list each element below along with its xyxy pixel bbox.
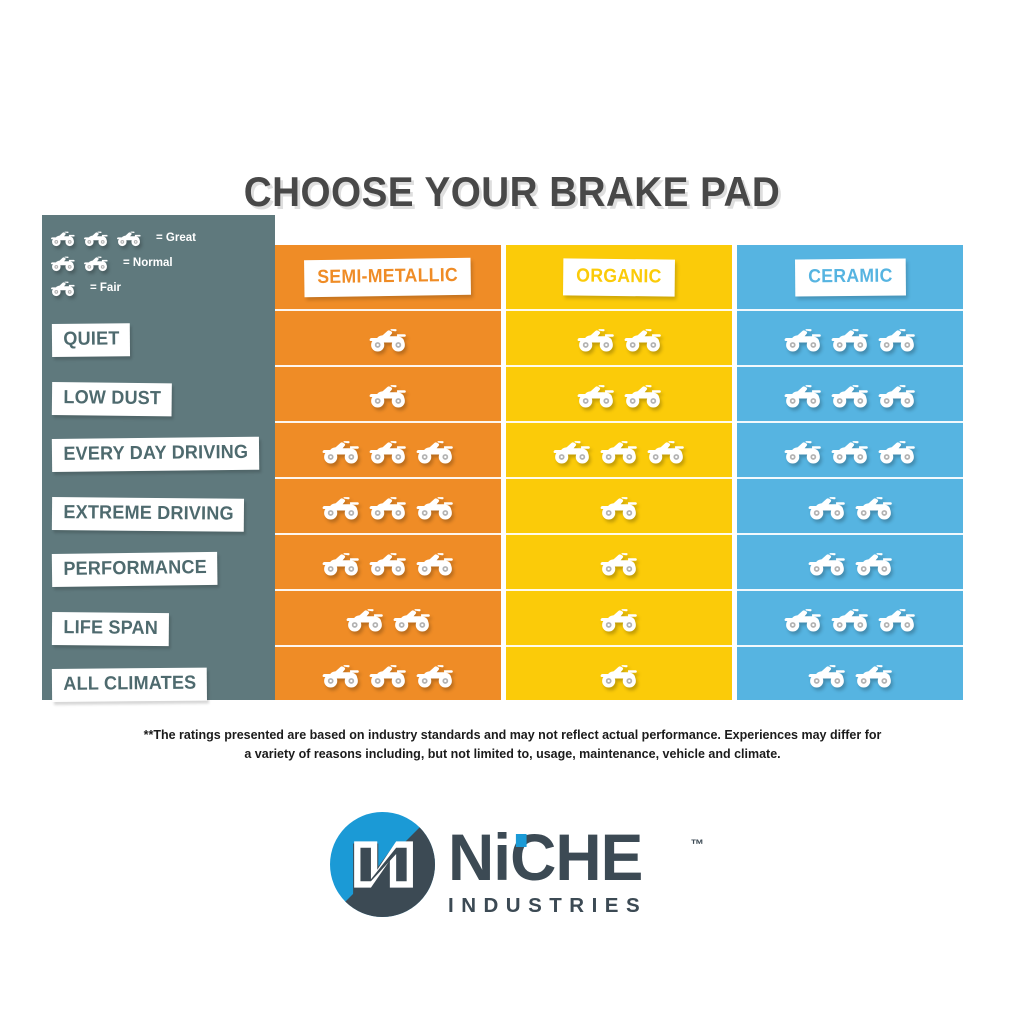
legend-item: = Great [50,225,270,250]
row-label-slot: QUIET [42,312,275,370]
column-header-semi-metallic: SEMI-METALLIC [275,245,501,309]
atv-icon [854,493,894,521]
atv-icon [599,493,639,521]
rating-cell-ceramic-life-span [737,589,963,647]
atv-icon [321,661,361,689]
atv-icon [854,549,894,577]
row-label-slot: PERFORMANCE [42,542,275,600]
atv-icon [368,493,408,521]
atv-icon [854,661,894,689]
atv-icon [783,381,823,409]
legend-icons [50,279,83,297]
row-label-slot: LOW DUST [42,370,275,428]
atv-icon [877,605,917,633]
atv-icon [321,493,361,521]
row-label-performance: PERFORMANCE [52,552,218,587]
atv-icon [807,661,847,689]
row-label-all-climates: ALL CLIMATES [52,668,207,702]
atv-icon [368,325,408,353]
atv-icon [392,605,432,633]
atv-icon [599,549,639,577]
atv-icon [877,381,917,409]
disclaimer-text: **The ratings presented are based on ind… [140,726,885,765]
atv-icon [368,661,408,689]
atv-icon [783,605,823,633]
rating-cell-organic-life-span [506,589,732,647]
rating-cell-semi-metallic-all-climates [275,645,501,703]
legend: = Great= Normal= Fair [50,225,270,300]
row-label-list: QUIETLOW DUSTEVERY DAY DRIVINGEXTREME DR… [42,312,275,715]
rating-cell-semi-metallic-every-day-driving [275,421,501,479]
sidebar-panel: = Great= Normal= Fair QUIETLOW DUSTEVERY… [42,215,275,700]
column-header-ceramic: CERAMIC [737,245,963,309]
logo-text-group: NiCHE ™ INDUSTRIES [448,826,648,918]
row-label-life-span: LIFE SPAN [52,612,169,646]
rating-cell-semi-metallic-quiet [275,309,501,367]
atv-icon [552,437,592,465]
rating-cell-organic-all-climates [506,645,732,703]
atv-icon [415,549,455,577]
rating-cell-organic-performance [506,533,732,591]
column-header-label: CERAMIC [795,258,906,296]
atv-icon [830,325,870,353]
column-header-label: ORGANIC [563,258,675,296]
legend-item-label: = Normal [123,257,173,269]
brand-logo: NiCHE ™ INDUSTRIES [330,812,710,927]
row-label-slot: EVERY DAY DRIVING [42,427,275,485]
rating-cell-ceramic-every-day-driving [737,421,963,479]
atv-icon [368,549,408,577]
legend-item-label: = Fair [90,282,121,294]
rating-cell-semi-metallic-life-span [275,589,501,647]
page-title: CHOOSE YOUR BRAKE PAD [41,168,983,216]
atv-icon [321,437,361,465]
column-organic: ORGANIC [506,245,732,700]
atv-icon [50,229,76,247]
legend-icons [50,254,116,272]
atv-icon [807,493,847,521]
logo-trademark: ™ [691,838,704,851]
logo-i-dot [516,834,527,847]
column-divider [501,245,506,700]
column-header-label: SEMI-METALLIC [304,257,471,297]
rating-cell-organic-quiet [506,309,732,367]
rating-cell-organic-low-dust [506,365,732,423]
atv-icon [368,437,408,465]
rating-cell-ceramic-quiet [737,309,963,367]
atv-icon [83,229,109,247]
column-semi-metallic: SEMI-METALLIC [275,245,501,700]
logo-wordmark-text: NiCHE [448,820,642,894]
rating-cell-semi-metallic-performance [275,533,501,591]
atv-icon [877,325,917,353]
atv-icon [830,605,870,633]
atv-icon [576,325,616,353]
logo-wordmark: NiCHE ™ [448,826,642,889]
rating-cell-ceramic-extreme-driving [737,477,963,535]
atv-icon [783,437,823,465]
rating-cell-ceramic-low-dust [737,365,963,423]
rating-cell-ceramic-performance [737,533,963,591]
atv-icon [321,549,361,577]
atv-icon [646,437,686,465]
comparison-grid: SEMI-METALLIC ORGANIC CERAMIC [275,245,963,700]
atv-icon [623,325,663,353]
column-ceramic: CERAMIC [737,245,963,700]
row-label-extreme-driving: EXTREME DRIVING [52,497,244,532]
atv-icon [783,325,823,353]
atv-icon [877,437,917,465]
legend-item: = Fair [50,275,270,300]
rating-cell-ceramic-all-climates [737,645,963,703]
atv-icon [83,254,109,272]
atv-icon [830,437,870,465]
rating-cell-organic-every-day-driving [506,421,732,479]
row-label-every-day-driving: EVERY DAY DRIVING [52,437,259,472]
logo-subtitle: INDUSTRIES [448,894,648,918]
atv-icon [50,279,76,297]
infographic-canvas: CHOOSE YOUR BRAKE PAD = Great= Normal= F… [0,0,1024,1024]
atv-icon [599,605,639,633]
legend-icons [50,229,149,247]
rating-cell-organic-extreme-driving [506,477,732,535]
rating-cell-semi-metallic-extreme-driving [275,477,501,535]
legend-item-label: = Great [156,232,196,244]
atv-icon [599,437,639,465]
atv-icon [576,381,616,409]
atv-icon [415,661,455,689]
atv-icon [623,381,663,409]
atv-icon [415,437,455,465]
atv-icon [368,381,408,409]
row-label-slot: EXTREME DRIVING [42,485,275,543]
atv-icon [345,605,385,633]
atv-icon [415,493,455,521]
atv-icon [50,254,76,272]
rating-cell-semi-metallic-low-dust [275,365,501,423]
atv-icon [116,229,142,247]
row-label-quiet: QUIET [52,324,130,358]
atv-icon [807,549,847,577]
atv-icon [830,381,870,409]
row-label-slot: LIFE SPAN [42,600,275,658]
row-label-low-dust: LOW DUST [52,382,172,416]
column-header-organic: ORGANIC [506,245,732,309]
row-label-slot: ALL CLIMATES [42,657,275,715]
column-divider [732,245,737,700]
niche-n-mark-icon [330,812,435,917]
atv-icon [599,661,639,689]
legend-item: = Normal [50,250,270,275]
